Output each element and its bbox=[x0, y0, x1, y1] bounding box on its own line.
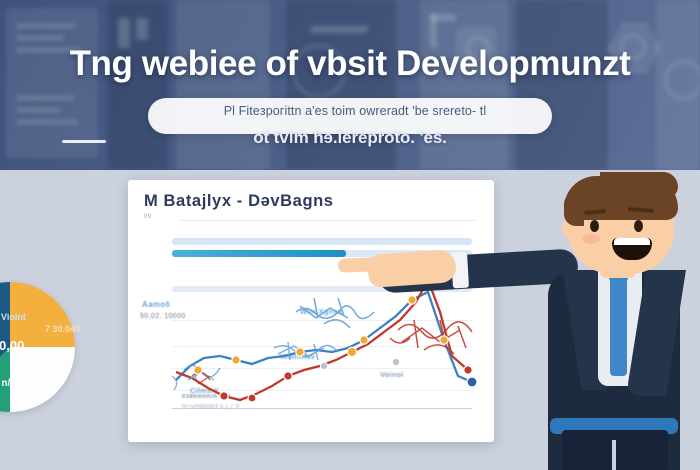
progress-bar-1-track bbox=[172, 238, 472, 245]
x-axis-label: hiTumblobiz's (.7 0 bbox=[182, 404, 240, 410]
cheek-blush bbox=[582, 234, 600, 244]
necktie bbox=[610, 272, 627, 376]
chart-annotation-3: Voinoi bbox=[380, 370, 404, 379]
hair-sweep bbox=[600, 172, 678, 198]
pie-slice-label-violet: Violnt bbox=[1, 312, 26, 322]
red-scribble-cluster-3 bbox=[192, 373, 210, 384]
trouser-gap bbox=[612, 440, 616, 470]
card-divider bbox=[180, 220, 476, 221]
pie-slice-label-value: 0,00 bbox=[0, 338, 24, 353]
hero-banner: Tng webiee of vbsit Developmunzt Pl Fite… bbox=[0, 0, 700, 170]
eye-right bbox=[634, 220, 643, 232]
subtitle-line-2: ot tvוm hɘ.lereproto. 'es. bbox=[0, 128, 700, 148]
pie-chart: Violnt 0,00 4 n/00 7 30.040 bbox=[0, 282, 75, 412]
businessman-illustration bbox=[506, 172, 700, 470]
y-axis-series-label: Aamoš bbox=[142, 300, 170, 309]
gridline bbox=[172, 368, 472, 369]
hair-side bbox=[564, 194, 584, 226]
subtitle-line-1: Pl Fiteзрогittn a'es toim owreradt 'be s… bbox=[160, 104, 550, 118]
red-series-line bbox=[176, 280, 468, 400]
eye-left bbox=[590, 220, 599, 232]
pointing-finger bbox=[338, 257, 378, 272]
hand bbox=[367, 249, 457, 288]
red-scribble-cluster bbox=[390, 320, 472, 354]
page-title: Tng webiee of vbsit Developmunzt bbox=[0, 44, 700, 84]
teeth bbox=[614, 238, 650, 245]
card-subtitle: 09 bbox=[144, 214, 151, 220]
data-point-markers bbox=[194, 276, 477, 402]
card-title: M Batajlyx - DəvBagns bbox=[144, 192, 334, 211]
chart-annotation-1: Wim.Xgnsa bbox=[300, 307, 342, 316]
chart-annotation-2: Wmtlitiav bbox=[280, 352, 315, 361]
pie-slice-label-green: 4 n/00 bbox=[0, 378, 21, 389]
gridline bbox=[172, 346, 472, 347]
y-axis-values: 50,02. 10000 bbox=[140, 313, 186, 320]
progress-bar-2-fill bbox=[172, 250, 346, 257]
gridline bbox=[172, 320, 472, 321]
chart-annotation-4: Cilms.Y bbox=[190, 386, 219, 395]
pie-slice-label-orange: 7 30.040 bbox=[45, 324, 80, 334]
analytics-card[interactable]: M Batajlyx - DəvBagns 09 Aamoš 50,02. 10… bbox=[128, 180, 494, 442]
